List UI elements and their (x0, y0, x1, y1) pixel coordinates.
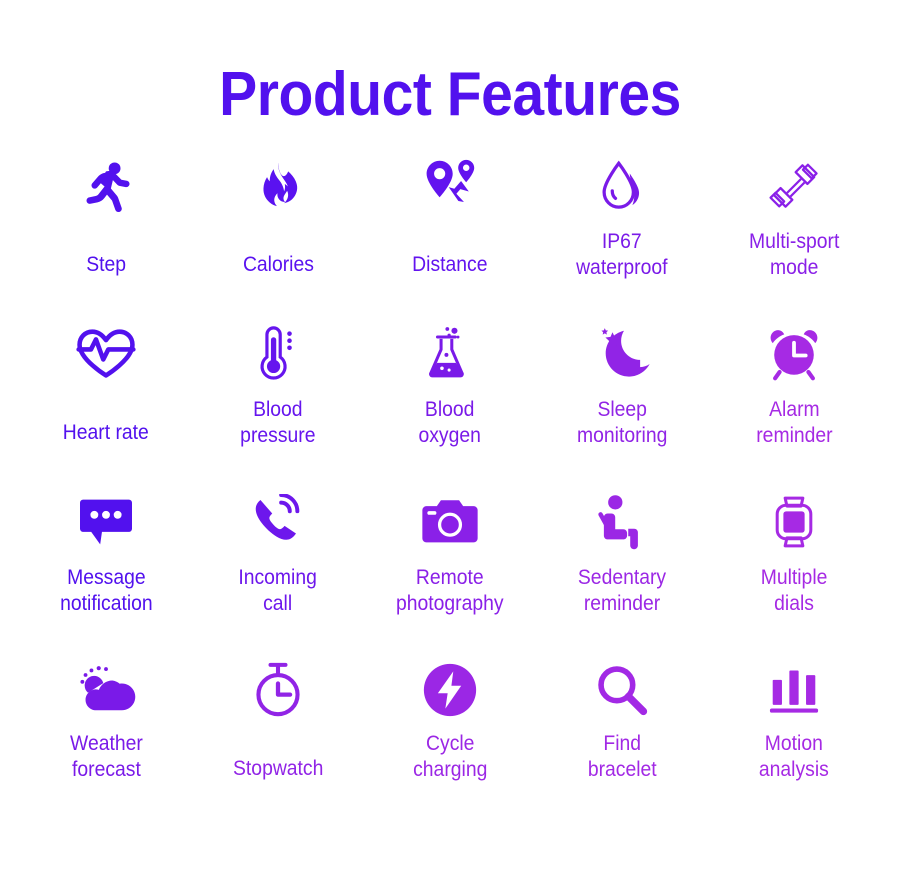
feature-label: Sedentary reminder (578, 564, 666, 616)
feature-label: Step (86, 251, 126, 277)
feature-item[interactable]: Message notification (20, 489, 192, 657)
feature-item[interactable]: Step (20, 153, 192, 321)
stopwatch-icon (251, 657, 305, 723)
feature-item[interactable]: Remote photography (364, 489, 536, 657)
feature-item[interactable]: Distance (364, 153, 536, 321)
page-title: Product Features (36, 0, 864, 127)
feature-item[interactable]: Calories (192, 153, 364, 321)
feature-item[interactable]: Blood oxygen (364, 321, 536, 489)
feature-label: Multi-sport mode (749, 228, 839, 280)
feature-label: Message notification (60, 564, 153, 616)
feature-label: Find bracelet (588, 730, 657, 782)
moon-stars-icon (593, 321, 651, 387)
thermometer-icon (255, 321, 301, 387)
alarm-clock-icon (766, 321, 822, 387)
lightning-bolt-icon (422, 657, 478, 723)
feature-label: Cycle charging (413, 730, 487, 782)
feature-label: Stopwatch (233, 755, 323, 781)
dumbbell-icon (765, 153, 823, 219)
heart-pulse-icon (75, 321, 137, 387)
feature-label: Calories (243, 251, 314, 277)
bar-chart-icon (767, 657, 821, 723)
feature-grid: Step Calories Distance IP67 waterproof M… (20, 127, 880, 825)
feature-label: Heart rate (63, 419, 149, 445)
feature-item[interactable]: Alarm reminder (708, 321, 880, 489)
feature-label: Blood pressure (240, 396, 315, 448)
feature-label: Alarm reminder (756, 396, 832, 448)
feature-item[interactable]: Multi-sport mode (708, 153, 880, 321)
feature-item[interactable]: Blood pressure (192, 321, 364, 489)
running-person-icon (77, 153, 135, 219)
feature-item[interactable]: Incoming call (192, 489, 364, 657)
feature-item[interactable]: Multiple dials (708, 489, 880, 657)
feature-label: Motion analysis (759, 730, 829, 782)
feature-label: Multiple dials (761, 564, 828, 616)
feature-item[interactable]: Motion analysis (708, 657, 880, 825)
map-pin-route-icon (421, 153, 479, 219)
sun-cloud-icon (76, 657, 136, 723)
feature-item[interactable]: Find bracelet (536, 657, 708, 825)
message-bubble-icon (78, 489, 134, 555)
flame-icon (253, 153, 303, 219)
water-drop-icon (596, 153, 648, 219)
feature-label: Incoming call (239, 564, 318, 616)
feature-label: IP67 waterproof (576, 228, 667, 280)
feature-label: Blood oxygen (419, 396, 481, 448)
feature-item[interactable]: Stopwatch (192, 657, 364, 825)
camera-icon (421, 489, 479, 555)
ringing-phone-icon (251, 489, 305, 555)
feature-label: Sleep monitoring (577, 396, 667, 448)
sitting-person-icon (597, 489, 647, 555)
feature-item[interactable]: Sedentary reminder (536, 489, 708, 657)
flask-icon (425, 321, 475, 387)
feature-item[interactable]: Weather forecast (20, 657, 192, 825)
feature-item[interactable]: Cycle charging (364, 657, 536, 825)
smartwatch-icon (771, 489, 817, 555)
feature-label: Remote photography (396, 564, 504, 616)
feature-item[interactable]: IP67 waterproof (536, 153, 708, 321)
feature-label: Weather forecast (70, 730, 143, 782)
feature-item[interactable]: Heart rate (20, 321, 192, 489)
magnifier-icon (595, 657, 649, 723)
feature-label: Distance (412, 251, 487, 277)
feature-item[interactable]: Sleep monitoring (536, 321, 708, 489)
